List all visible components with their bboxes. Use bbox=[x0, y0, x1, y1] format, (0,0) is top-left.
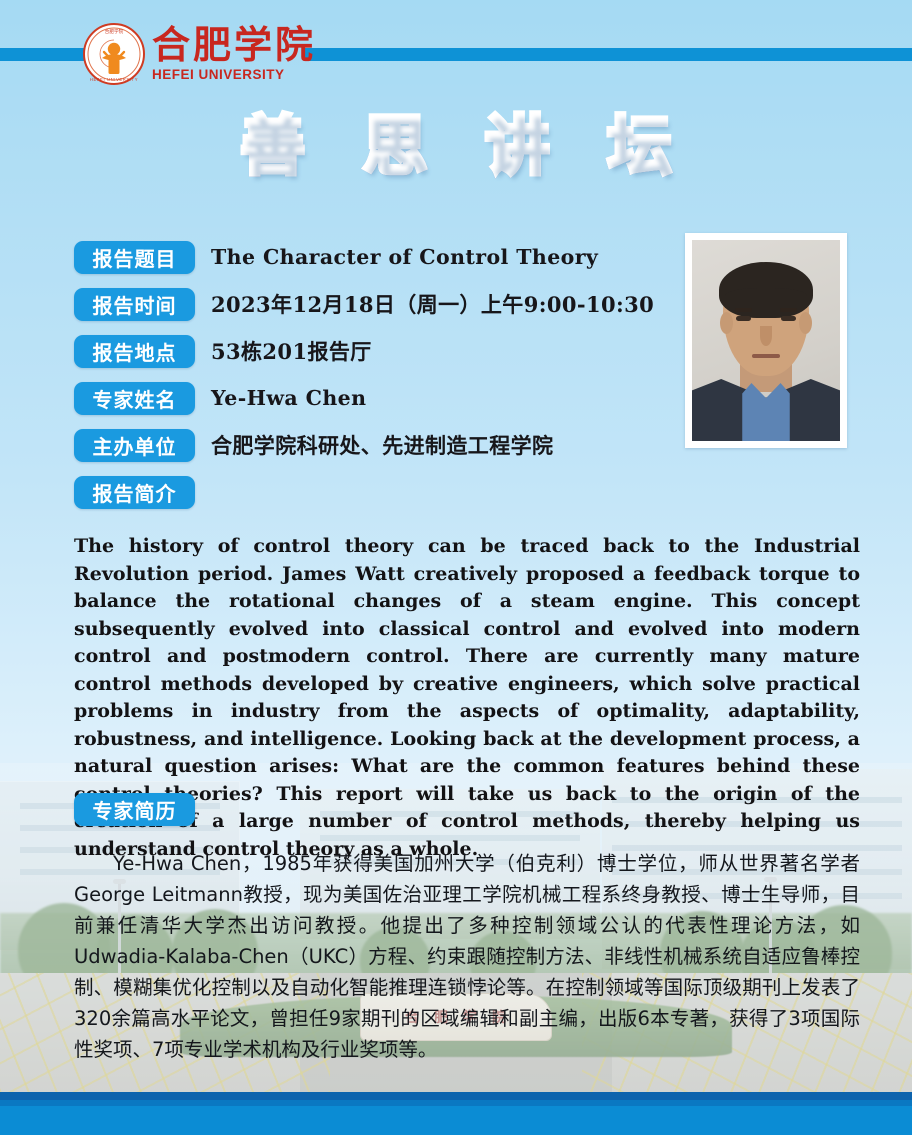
label-speaker-name: 专家姓名 bbox=[74, 382, 195, 415]
logo-text-en: HEFEI UNIVERSITY bbox=[152, 67, 316, 82]
page-title: 善 思 讲 坛 bbox=[0, 112, 912, 182]
hefei-university-seal-icon: 合肥学院 HEFEI UNIVERSITY bbox=[82, 22, 146, 86]
value-report-time: 2023年12月18日（周一）上午9:00-10:30 bbox=[211, 289, 654, 319]
info-row-title: 报告题目 The Character of Control Theory bbox=[74, 238, 674, 276]
info-row-speaker: 专家姓名 Ye-Hwa Chen bbox=[74, 379, 674, 417]
info-row-time: 报告时间 2023年12月18日（周一）上午9:00-10:30 bbox=[74, 285, 674, 323]
label-organizer: 主办单位 bbox=[74, 429, 195, 462]
label-report-title: 报告题目 bbox=[74, 241, 195, 274]
info-row-location: 报告地点 53栋201报告厅 bbox=[74, 332, 674, 370]
label-report-time: 报告时间 bbox=[74, 288, 195, 321]
university-logo: 合肥学院 HEFEI UNIVERSITY 合肥学院 HEFEI UNIVERS… bbox=[82, 22, 316, 86]
label-speaker-bio: 专家简历 bbox=[74, 793, 195, 826]
header-rule-right bbox=[305, 48, 912, 61]
avatar bbox=[685, 233, 847, 448]
info-rows: 报告题目 The Character of Control Theory 报告时… bbox=[74, 238, 674, 520]
poster-header: 合肥学院 HEFEI UNIVERSITY 合肥学院 HEFEI UNIVERS… bbox=[0, 0, 912, 104]
label-abstract: 报告简介 bbox=[74, 476, 195, 509]
info-row-abstract-heading: 报告简介 bbox=[74, 473, 674, 511]
value-organizer: 合肥学院科研处、先进制造工程学院 bbox=[211, 430, 553, 460]
svg-text:合肥学院: 合肥学院 bbox=[105, 28, 124, 35]
speaker-bio-text: Ye-Hwa Chen，1985年获得美国加州大学（伯克利）博士学位，师从世界著… bbox=[74, 848, 860, 1065]
value-report-location: 53栋201报告厅 bbox=[211, 336, 372, 366]
info-row-organizer: 主办单位 合肥学院科研处、先进制造工程学院 bbox=[74, 426, 674, 464]
label-report-location: 报告地点 bbox=[74, 335, 195, 368]
footer-bar-light bbox=[0, 1106, 912, 1135]
poster-root: 合 肥 学 院 合肥学院 HEFEI UNIVERSIT bbox=[0, 0, 912, 1135]
svg-text:HEFEI UNIVERSITY: HEFEI UNIVERSITY bbox=[90, 77, 138, 82]
value-speaker-name: Ye-Hwa Chen bbox=[211, 386, 366, 410]
logo-text-zh: 合肥学院 bbox=[152, 26, 316, 64]
value-report-title: The Character of Control Theory bbox=[211, 245, 598, 269]
